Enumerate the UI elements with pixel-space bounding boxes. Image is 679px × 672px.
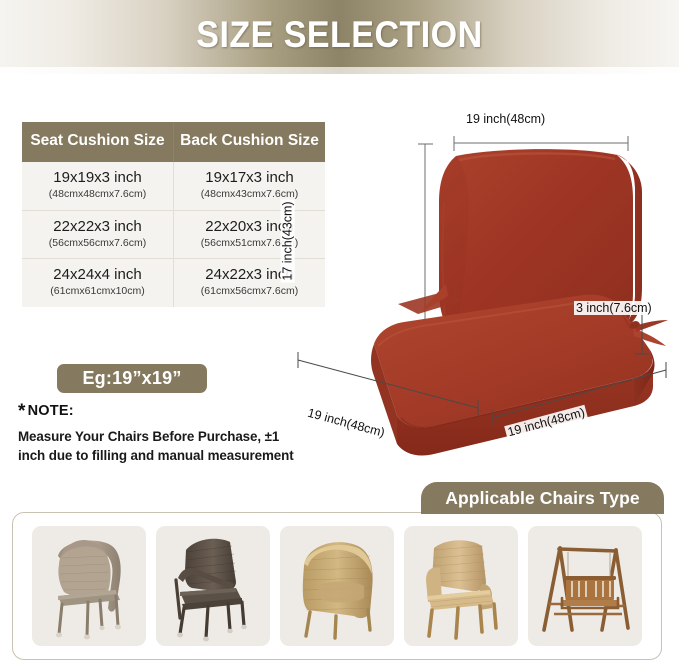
seat-size-inch-1: 19x19x3 inch [25, 169, 170, 187]
chair-card-woven-seagrass-armchair[interactable] [404, 526, 518, 646]
chair-card-dark-wicker-stacking-armchair[interactable] [156, 526, 270, 646]
seat-size-inch-2: 22x22x3 inch [25, 218, 170, 236]
column-header-seat-cushion-size: Seat Cushion Size [22, 122, 174, 162]
dimension-guides-left [418, 144, 433, 344]
note-block: *NOTE: Measure Your Chairs Before Purcha… [18, 402, 308, 466]
dark-wicker-stacking-armchair-icon [156, 526, 270, 646]
seat-size-cm-1: (48cmx48cmx7.6cm) [25, 188, 170, 202]
note-heading-text: NOTE: [28, 403, 74, 419]
dimension-label-thickness: 3 inch(7.6cm) [574, 301, 654, 315]
cushion-diagram: 19 inch(48cm) 17 inch(43cm) 3 inch(7.6cm… [278, 96, 679, 476]
seat-size-cm-3: (61cmx61cmx10cm) [25, 285, 170, 299]
note-body: Measure Your Chairs Before Purchase, ±1 … [18, 427, 308, 466]
barrel-wicker-tub-chair-icon [280, 526, 394, 646]
round-back-rattan-armchair-icon [32, 526, 146, 646]
example-size-badge: Eg:19”x19” [57, 364, 207, 393]
cell-seat-size-3: 24x24x4 inch (61cmx61cmx10cm) [22, 259, 174, 307]
woven-seagrass-armchair-icon [404, 526, 518, 646]
applicable-chairs-tab: Applicable Chairs Type [421, 482, 664, 514]
seat-size-cm-2: (56cmx56cmx7.6cm) [25, 237, 170, 251]
dimension-label-back-width: 19 inch(48cm) [464, 112, 547, 126]
asterisk-icon: * [18, 401, 26, 422]
chair-card-round-back-rattan-armchair[interactable] [32, 526, 146, 646]
cell-seat-size-2: 22x22x3 inch (56cmx56cmx7.6cm) [22, 210, 174, 259]
seat-size-inch-3: 24x24x4 inch [25, 266, 170, 284]
note-heading: *NOTE: [18, 402, 308, 421]
chair-card-barrel-wicker-tub-chair[interactable] [280, 526, 394, 646]
dimension-label-back-height: 17 inch(43cm) [281, 199, 295, 282]
chair-thumbnail-row [12, 520, 662, 652]
page-title: SIZE SELECTION [27, 14, 652, 56]
chair-card-wooden-porch-swing[interactable] [528, 526, 642, 646]
wooden-porch-swing-icon [528, 526, 642, 646]
cell-seat-size-1: 19x19x3 inch (48cmx48cmx7.6cm) [22, 162, 174, 210]
dimension-guides-top [454, 136, 628, 151]
